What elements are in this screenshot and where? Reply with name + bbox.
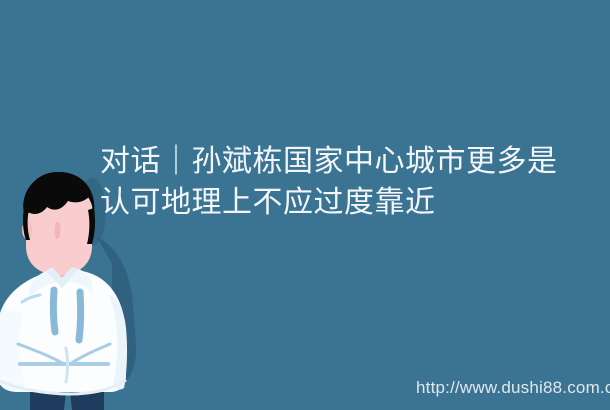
title-line-2: 认可地理上不应过度靠近 <box>100 182 600 223</box>
title-line-1: 对话｜孙斌栋国家中心城市更多是 <box>100 141 600 182</box>
watermark-url: http://www.dushi88.com.cn <box>416 378 610 398</box>
drawstring-left <box>53 290 55 332</box>
hoodie <box>0 267 127 394</box>
image-canvas: 对话｜孙斌栋国家中心城市更多是 认可地理上不应过度靠近 http://www.d… <box>0 0 610 410</box>
pocket-crease <box>66 348 68 382</box>
title-block: 对话｜孙斌栋国家中心城市更多是 认可地理上不应过度靠近 <box>100 141 600 223</box>
drawstring-right <box>79 292 81 340</box>
